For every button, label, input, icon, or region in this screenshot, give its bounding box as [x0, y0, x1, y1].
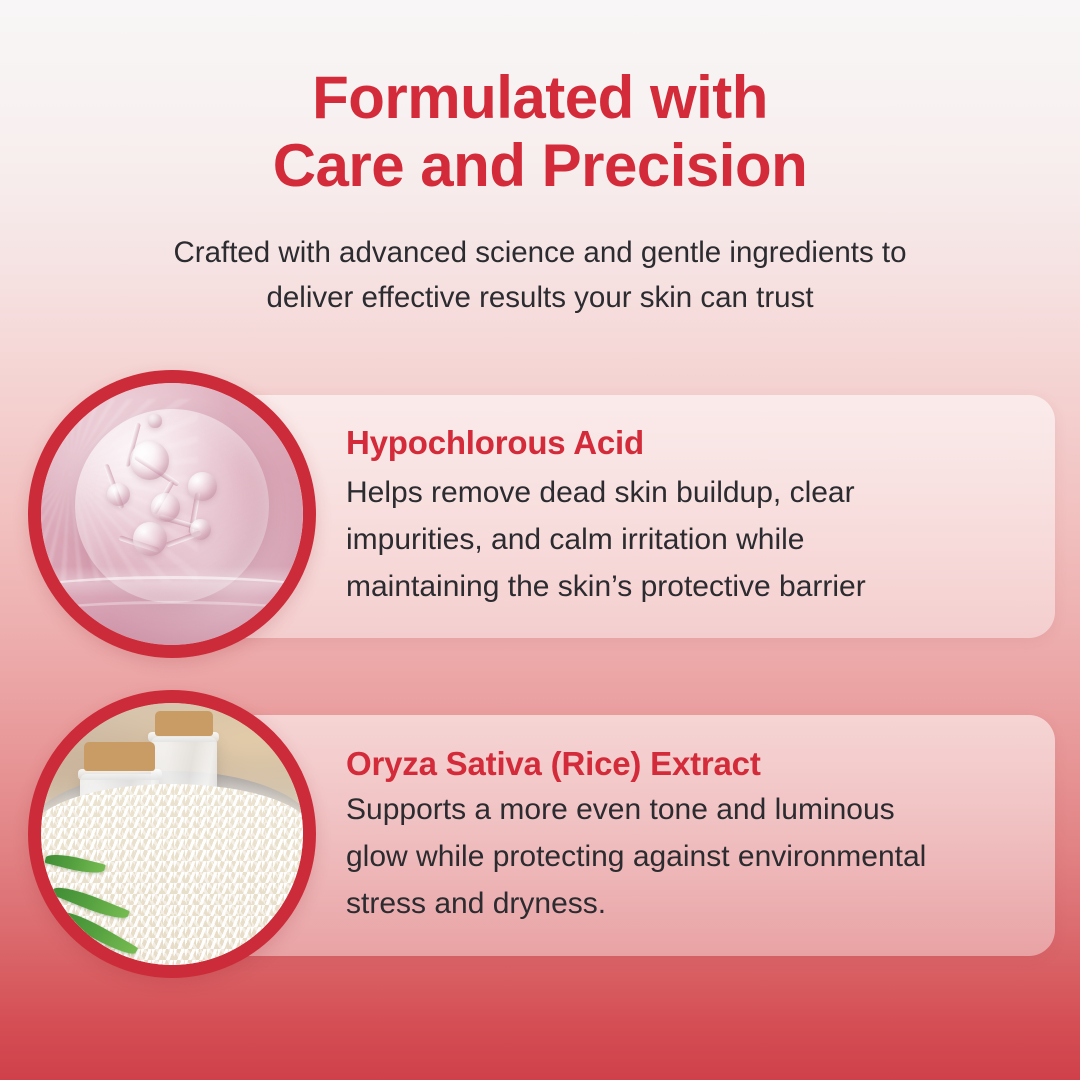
card-description: Helps remove dead skin buildup, clear im… — [346, 470, 1031, 610]
card-body: Oryza Sativa (Rice) Extract Supports a m… — [346, 715, 1031, 956]
molecule-atom — [130, 441, 169, 480]
card-description: Supports a more even tone and luminous g… — [346, 787, 1031, 927]
ingredient-highlight-poster: Formulated with Care and Precision Craft… — [0, 0, 1080, 1080]
thumbnail-image-gel-molecule — [41, 383, 303, 645]
molecule-atom — [107, 483, 131, 507]
card-body: Hypochlorous Acid Helps remove dead skin… — [346, 395, 1031, 638]
card-title: Oryza Sativa (Rice) Extract — [346, 744, 1031, 784]
thumbnail-image-rice-bottles — [41, 703, 303, 965]
header: Formulated with Care and Precision Craft… — [0, 0, 1080, 320]
molecule-atom — [148, 414, 161, 427]
ingredient-thumbnail-hypochlorous-acid — [28, 370, 316, 658]
molecule-atom — [133, 522, 167, 556]
gel-water-ripple — [41, 566, 303, 645]
page-subtitle: Crafted with advanced science and gentle… — [100, 231, 980, 321]
molecule-atom — [151, 493, 180, 522]
ingredient-thumbnail-oryza-sativa-extract — [28, 690, 316, 978]
molecule-atom — [188, 472, 217, 501]
page-title: Formulated with Care and Precision — [0, 64, 1080, 201]
cork-stopper-back — [155, 711, 213, 736]
cork-stopper-front — [84, 742, 155, 771]
card-title: Hypochlorous Acid — [346, 423, 1031, 463]
molecule-atom — [190, 519, 211, 540]
